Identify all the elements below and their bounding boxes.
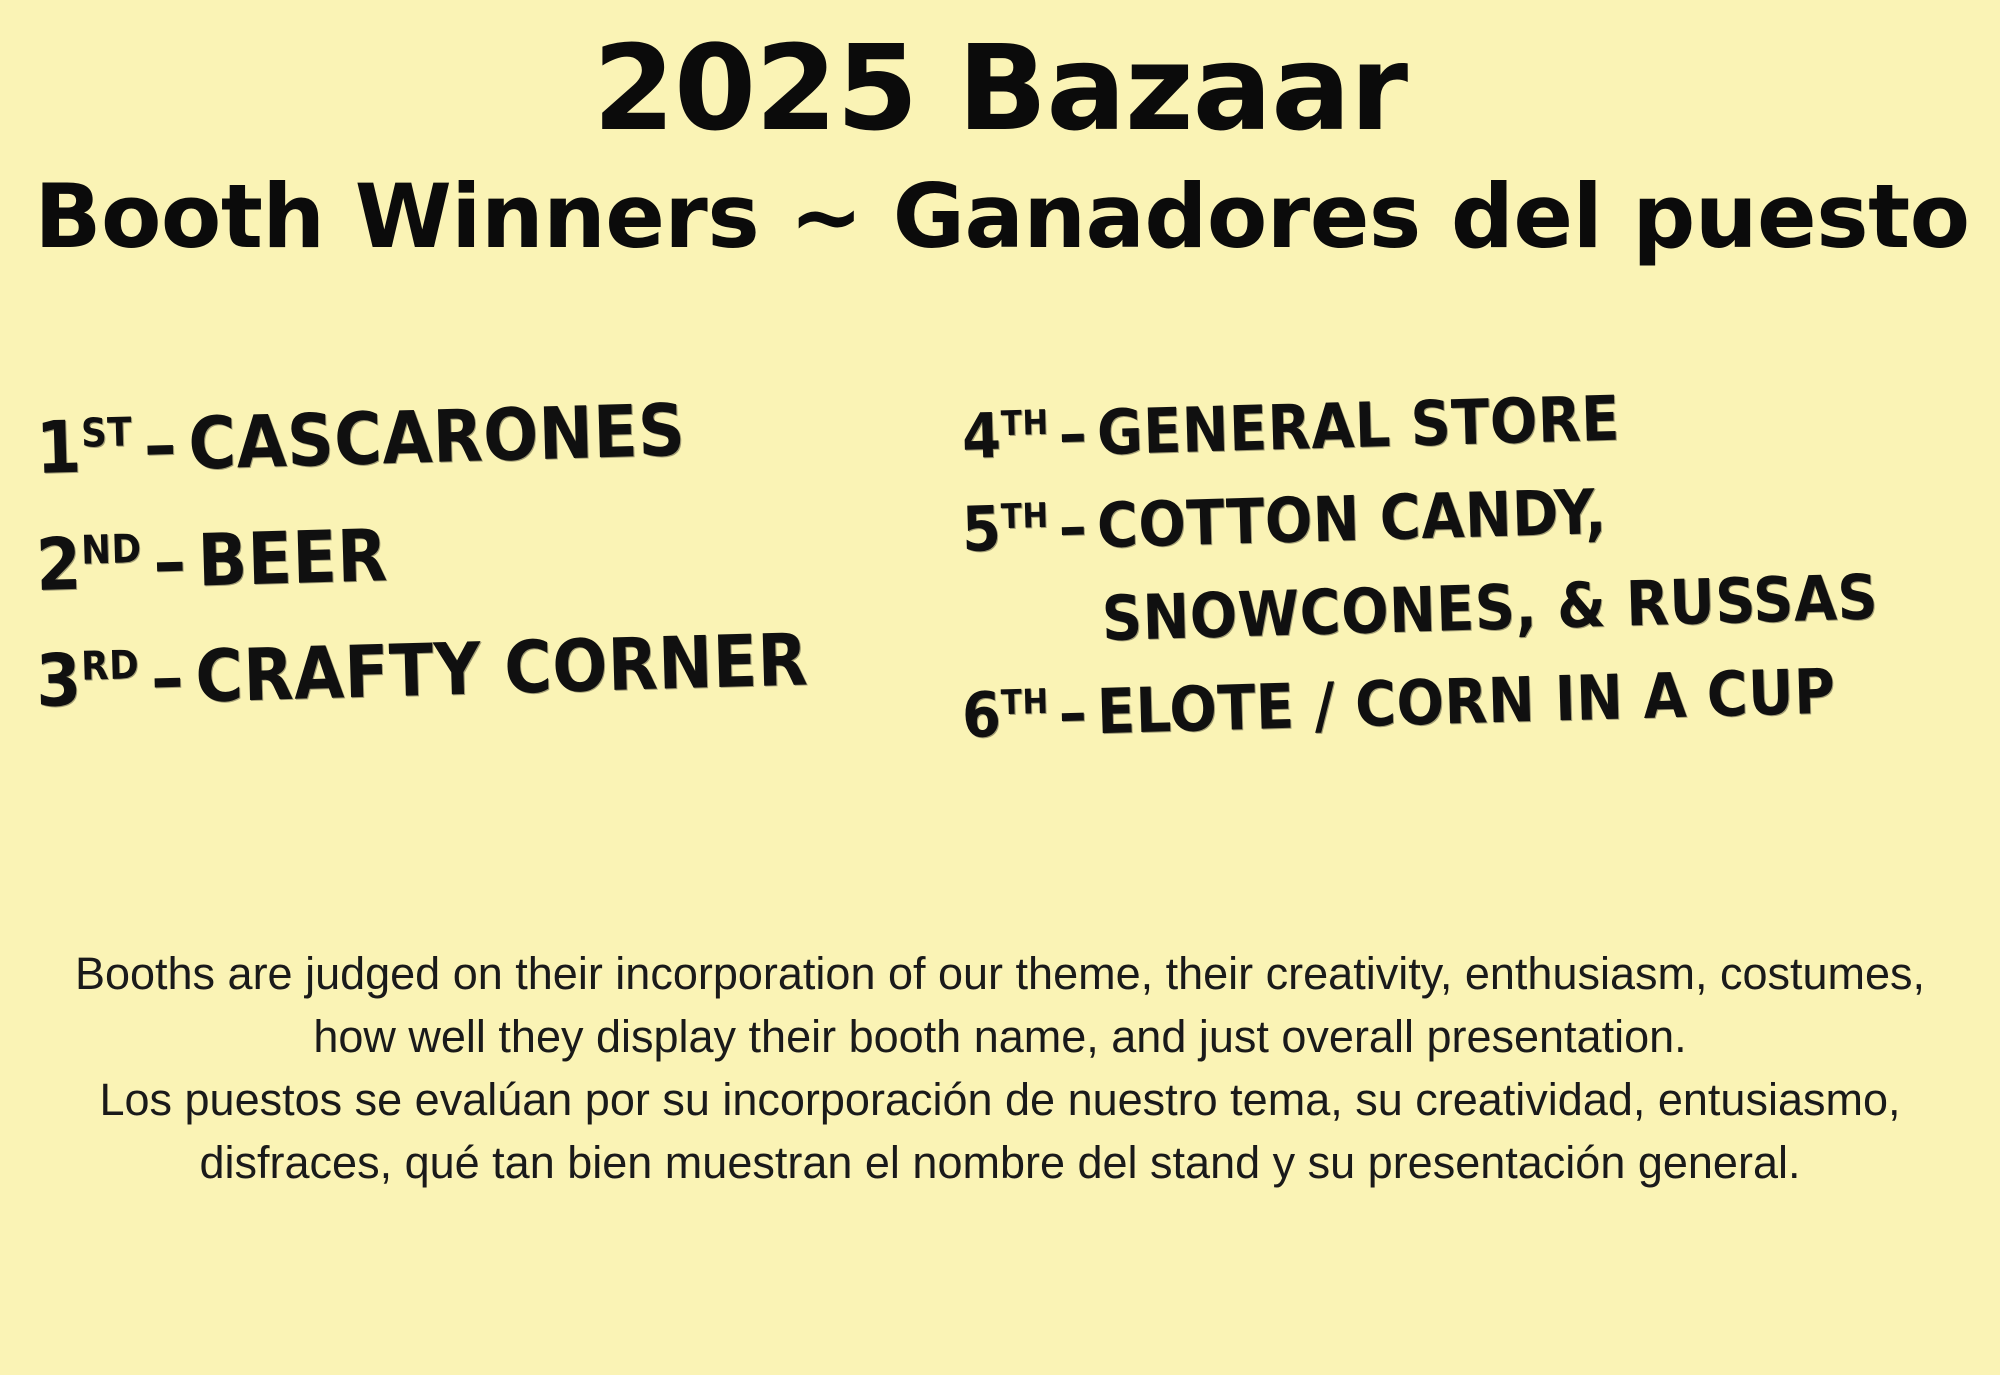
winner-ordinal-suffix-4: TH (1000, 403, 1049, 444)
winner-ordinal-2: 2ND (34, 504, 143, 624)
winner-ordinal-1: 1ST (34, 387, 134, 506)
winner-label-2: BEER (196, 497, 389, 619)
winner-ordinal-number-6: 6 (961, 678, 1002, 752)
winner-row-3: 3RD–CRAFTY CORNER (34, 598, 937, 740)
judging-criteria-spanish: Los puestos se evalúan por su incorporac… (60, 1068, 1940, 1194)
winner-dash-2: – (140, 502, 199, 620)
winner-ordinal-number-2: 2 (35, 521, 83, 606)
winner-ordinal-suffix-2: ND (81, 526, 143, 574)
winner-ordinal-suffix-1: ST (81, 409, 133, 456)
winners-column-right: 4TH–GENERAL STORE 5TH–COTTON CANDY, SNOW… (962, 390, 1992, 762)
winner-label-1: CASCARONES (187, 372, 687, 502)
poster-canvas: 2025 Bazaar Booth Winners ~ Ganadores de… (0, 0, 2000, 1375)
winner-dash-5: – (1048, 479, 1099, 573)
winners-section: 1ST–CASCARONES 2ND–BEER 3RD–CRAFTY CORNE… (0, 390, 2000, 890)
winner-dash-4: – (1048, 386, 1099, 480)
winner-ordinal-number-1: 1 (35, 405, 83, 490)
judging-criteria-block: Booths are judged on their incorporation… (60, 942, 1940, 1194)
winner-ordinal-6: 6TH (961, 667, 1050, 762)
winner-ordinal-number-3: 3 (35, 638, 83, 723)
winner-label-6: ELOTE / CORN IN A CUP (1096, 645, 1837, 759)
winner-label-5: COTTON CANDY, (1096, 465, 1608, 572)
winner-dash-3: – (138, 619, 197, 737)
winner-dash-6: – (1048, 665, 1099, 759)
winner-dash-1: – (131, 386, 190, 504)
winner-ordinal-4: 4TH (961, 388, 1050, 483)
winner-ordinal-3: 3RD (34, 620, 141, 739)
winner-label-3: CRAFTY CORNER (194, 602, 810, 736)
winner-ordinal-number-5: 5 (961, 492, 1002, 566)
winners-column-left: 1ST–CASCARONES 2ND–BEER 3RD–CRAFTY CORNE… (36, 390, 936, 740)
page-subtitle: Booth Winners ~ Ganadores del puesto (22, 168, 1982, 267)
judging-criteria-english: Booths are judged on their incorporation… (60, 942, 1940, 1068)
page-title: 2025 Bazaar (0, 22, 2000, 154)
winner-label-4: GENERAL STORE (1096, 372, 1621, 480)
winner-ordinal-number-4: 4 (961, 399, 1002, 473)
winner-ordinal-suffix-3: RD (81, 642, 140, 690)
winner-ordinal-5: 5TH (961, 481, 1050, 576)
winner-ordinal-suffix-6: TH (1000, 682, 1049, 723)
winner-ordinal-suffix-5: TH (1000, 496, 1049, 537)
